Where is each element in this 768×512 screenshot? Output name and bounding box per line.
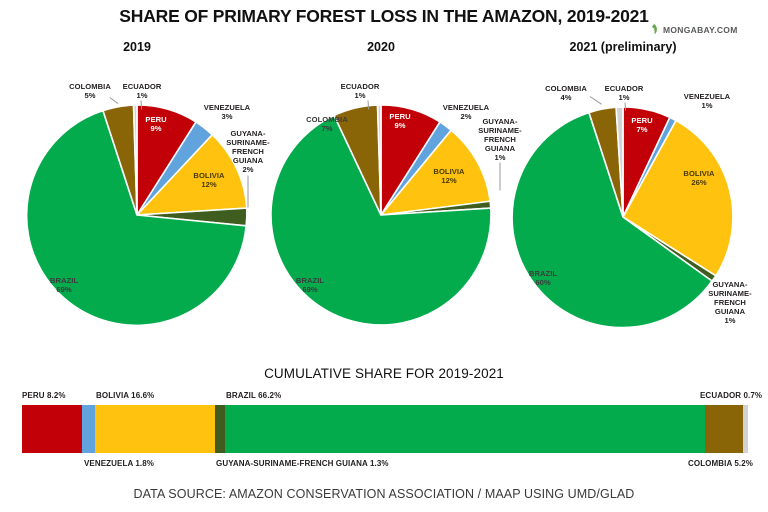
bar-label-brazil: BRAZIL 66.2%	[226, 391, 281, 400]
pie-2021-label-guyana: GUYANA-SURINAME-FRENCH GUIANA 1%	[702, 281, 758, 326]
data-source: DATA SOURCE: AMAZON CONSERVATION ASSOCIA…	[0, 487, 768, 501]
pie-2021-label-ecuador: ECUADOR 1%	[600, 85, 648, 103]
cumulative-title: CUMULATIVE SHARE FOR 2019-2021	[0, 366, 768, 381]
cumulative-stacked-bar	[22, 405, 748, 453]
pie-2020-label-ecuador: ECUADOR 1%	[336, 83, 384, 101]
leader-line-guyana-2020	[500, 163, 501, 191]
bar-segment-colombia	[705, 405, 743, 453]
pie-2019-label-peru: PERU 9%	[135, 116, 177, 134]
pie-2020-label-colombia: COLOMBIA 7%	[300, 116, 354, 134]
bar-segment-peru	[22, 405, 82, 453]
brand-label: MONGABAY.COM	[663, 25, 738, 35]
pie-2019-label-brazil: BRAZIL 69%	[40, 277, 88, 295]
leader-line-ecuador-2019	[141, 100, 143, 109]
pie-2020-label-brazil: BRAZIL 69%	[286, 277, 334, 295]
bar-label-venezuela: VENEZUELA 1.8%	[84, 459, 154, 468]
pie-2021-label-venezuela: VENEZUELA 1%	[678, 93, 736, 111]
leader-line-guyana-2019	[248, 176, 249, 208]
bar-label-ecuador: ECUADOR 0.7%	[700, 391, 762, 400]
bar-segment-venezuela	[82, 405, 95, 453]
pie-2021-label-bolivia: BOLIVIA 26%	[676, 170, 722, 188]
pie-2019-label-ecuador: ECUADOR 1%	[118, 83, 166, 101]
bar-label-guyana: GUYANA-SURINAME-FRENCH GUIANA 1.3%	[216, 459, 389, 468]
pie-title-2021: 2021 (preliminary)	[503, 40, 743, 54]
bar-label-peru: PERU 8.2%	[22, 391, 66, 400]
pie-title-2019: 2019	[17, 40, 257, 54]
bar-label-bolivia: BOLIVIA 16.6%	[96, 391, 154, 400]
infographic-root: SHARE OF PRIMARY FOREST LOSS IN THE AMAZ…	[0, 0, 768, 512]
bar-segment-bolivia	[95, 405, 216, 453]
pie-2021-label-peru: PERU 7%	[621, 117, 663, 135]
pie-2020-label-peru: PERU 9%	[379, 113, 421, 131]
pie-chart-2021	[513, 107, 733, 327]
leaf-icon	[650, 24, 659, 35]
pie-2021-label-colombia: COLOMBIA 4%	[540, 85, 592, 103]
bar-segment-ecuador	[743, 405, 748, 453]
bar-label-colombia: COLOMBIA 5.2%	[688, 459, 753, 468]
bar-segment-guyana	[215, 405, 224, 453]
mongabay-brand: MONGABAY.COM	[650, 24, 738, 35]
pie-2020-label-bolivia: BOLIVIA 12%	[426, 168, 472, 186]
pie-2019-label-guyana: GUYANA-SURINAME-FRENCH GUIANA 2%	[222, 130, 274, 175]
leader-line-ecuador-2021	[625, 102, 627, 110]
pie-2019-label-bolivia: BOLIVIA 12%	[186, 172, 232, 190]
leader-line-ecuador-2020	[368, 100, 370, 109]
pie-title-2020: 2020	[261, 40, 501, 54]
pie-2019-label-venezuela: VENEZUELA 3%	[198, 104, 256, 122]
bar-segment-brazil	[225, 405, 706, 453]
pie-2021-label-brazil: BRAZIL 60%	[519, 270, 567, 288]
